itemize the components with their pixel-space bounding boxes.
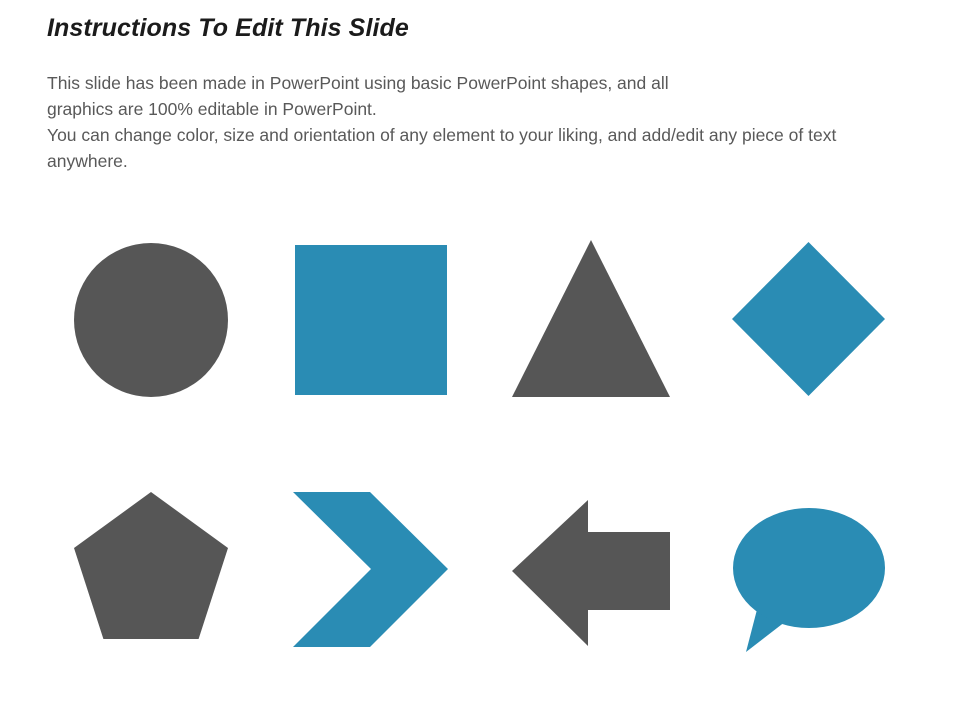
chevron-right-glyph (293, 492, 448, 647)
diamond-shape[interactable] (732, 242, 885, 396)
diamond-glyph (732, 242, 885, 396)
speech-bubble-shape[interactable] (730, 506, 888, 656)
circle-glyph (74, 243, 228, 397)
arrow-left-shape[interactable] (512, 500, 670, 650)
triangle-glyph (512, 240, 670, 397)
shape-gallery (0, 0, 960, 720)
triangle-shape[interactable] (512, 240, 670, 397)
slide-canvas: Instructions To Edit This Slide This sli… (0, 0, 960, 720)
square-shape[interactable] (295, 245, 447, 395)
pentagon-glyph (74, 492, 228, 639)
circle-shape[interactable] (74, 243, 228, 397)
chevron-right-shape[interactable] (293, 492, 448, 647)
speech-bubble-glyph (733, 508, 885, 652)
arrow-left-glyph (512, 500, 670, 646)
square-glyph (295, 245, 447, 395)
pentagon-shape[interactable] (74, 492, 228, 646)
